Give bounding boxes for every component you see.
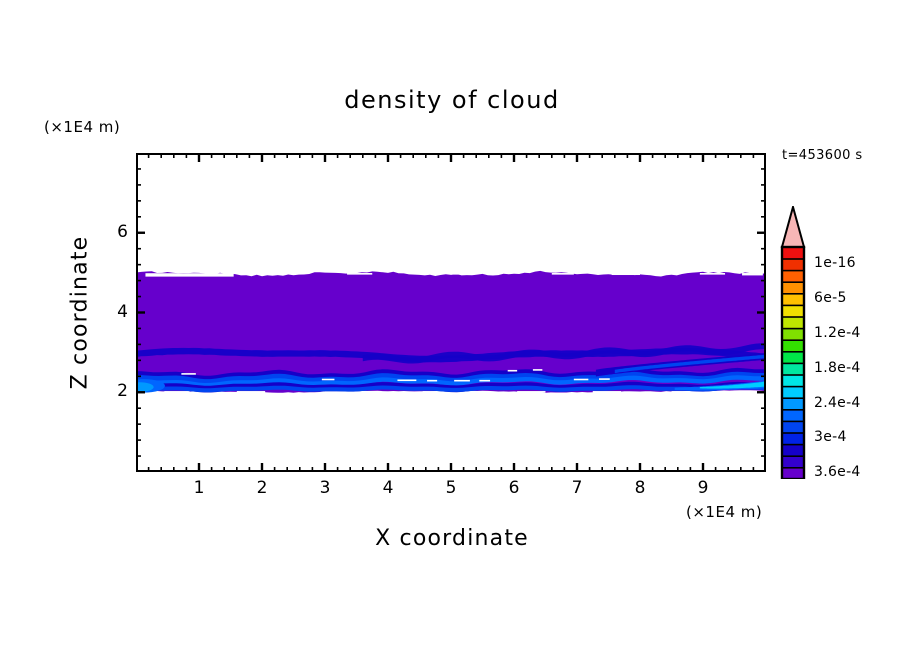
y-tick-label: 2 [88, 381, 128, 401]
colorbar-tick-label: 3.6e-4 [814, 464, 861, 480]
x-tick-label: 5 [431, 478, 471, 498]
colorbar-swatches [779, 206, 809, 479]
colorbar-tick-label: 3e-4 [814, 429, 847, 445]
colorbar-tick-label: 2.4e-4 [814, 395, 861, 411]
y-axis-units-label: (×1E4 m) [44, 118, 120, 136]
x-tick-label: 2 [242, 478, 282, 498]
x-axis-units-label: (×1E4 m) [686, 503, 762, 521]
figure-canvas: density of cloud (×1E4 m) (×1E4 m) t=453… [0, 0, 904, 654]
x-axis-title: X coordinate [0, 526, 904, 551]
colorbar-tick-label: 1.8e-4 [814, 360, 861, 376]
x-tick-label: 4 [368, 478, 408, 498]
x-tick-label: 1 [179, 478, 219, 498]
contour-plot-area [136, 153, 766, 472]
x-tick-label: 7 [557, 478, 597, 498]
x-tick-label: 6 [494, 478, 534, 498]
colorbar-tick-label: 6e-5 [814, 290, 847, 306]
colorbar [779, 206, 809, 479]
x-tick-label: 3 [305, 478, 345, 498]
colorbar-tick-label: 1e-16 [814, 255, 856, 271]
x-tick-label: 9 [683, 478, 723, 498]
contour-field [136, 153, 766, 472]
page-title: density of cloud [0, 86, 904, 114]
y-tick-label: 4 [88, 302, 128, 322]
x-tick-label: 8 [620, 478, 660, 498]
y-tick-label: 6 [88, 222, 128, 242]
contour-layers [136, 271, 766, 393]
colorbar-tick-label: 1.2e-4 [814, 325, 861, 341]
time-stamp-label: t=453600 s [782, 148, 863, 163]
